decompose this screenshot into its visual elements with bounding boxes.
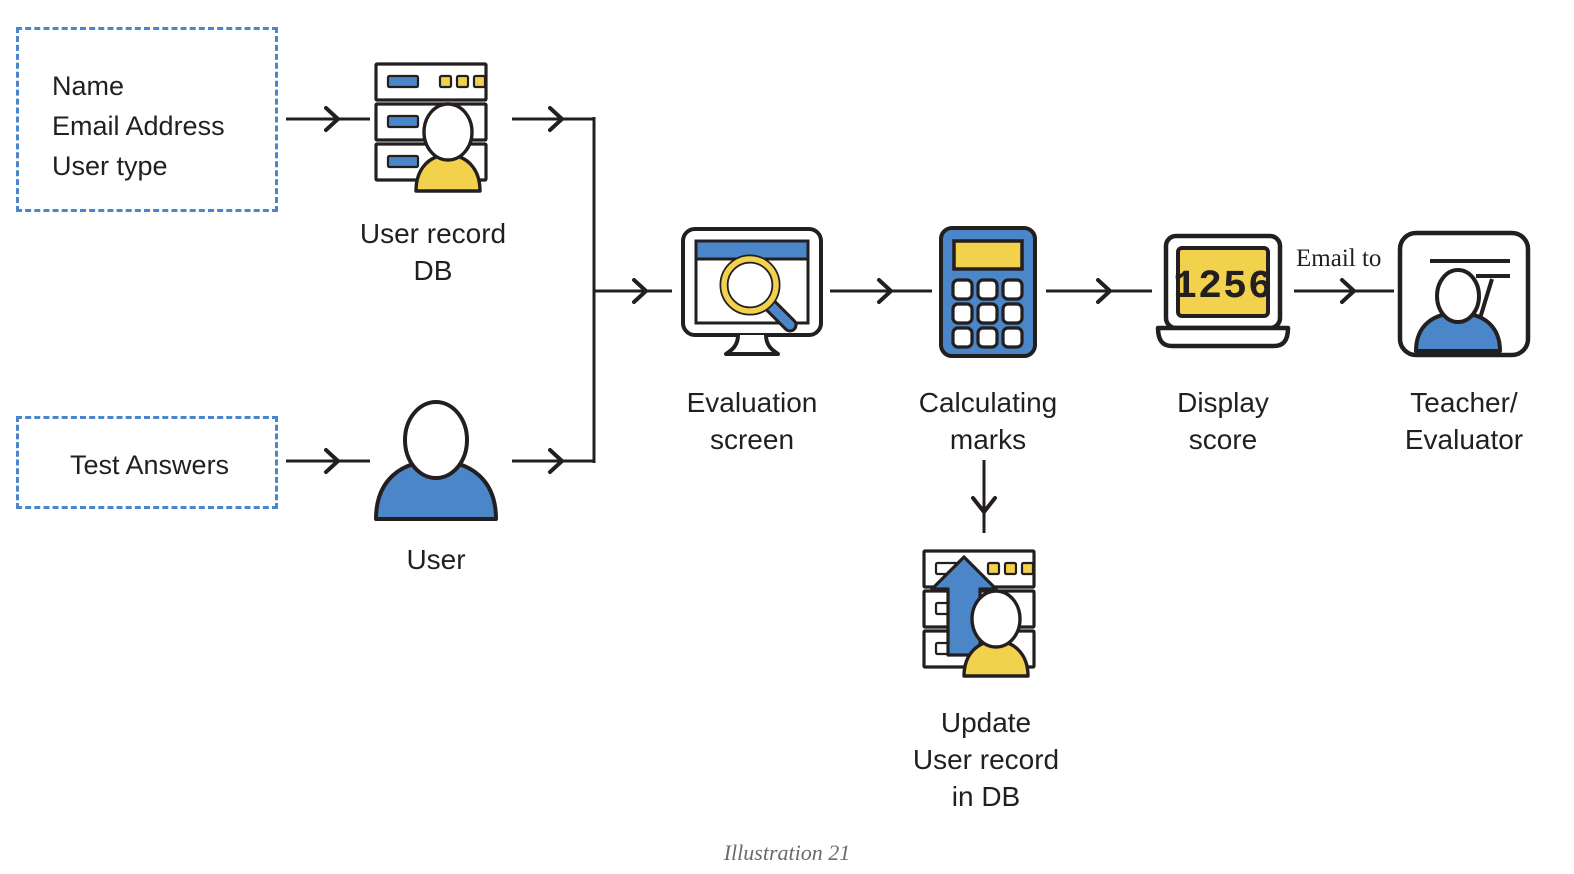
user-label: User <box>336 541 536 578</box>
teacher-evaluator-label: Teacher/ Evaluator <box>1364 384 1564 458</box>
laptop-score-icon: 1256 <box>1152 232 1294 350</box>
evaluation-screen-label: Evaluation screen <box>652 384 852 458</box>
user-person-icon <box>368 395 504 525</box>
figure-caption: Illustration 21 <box>0 840 1574 866</box>
server-upload-arrow-user-icon <box>916 545 1056 681</box>
server-database-user-icon <box>368 58 518 198</box>
diagram-canvas: Name Email Address User type Test Answer… <box>0 0 1574 874</box>
display-score-label: Display score <box>1123 384 1323 458</box>
update-user-record-label: Update User record in DB <box>886 704 1086 815</box>
calculator-icon <box>936 224 1040 360</box>
calculating-marks-label: Calculating marks <box>888 384 1088 458</box>
teacher-whiteboard-icon <box>1396 229 1532 359</box>
email-to-edge-label: Email to <box>1296 245 1381 273</box>
display-score-value: 1256 <box>1173 265 1273 310</box>
user-record-db-label: User record DB <box>333 215 533 289</box>
monitor-magnifier-icon <box>678 225 826 360</box>
